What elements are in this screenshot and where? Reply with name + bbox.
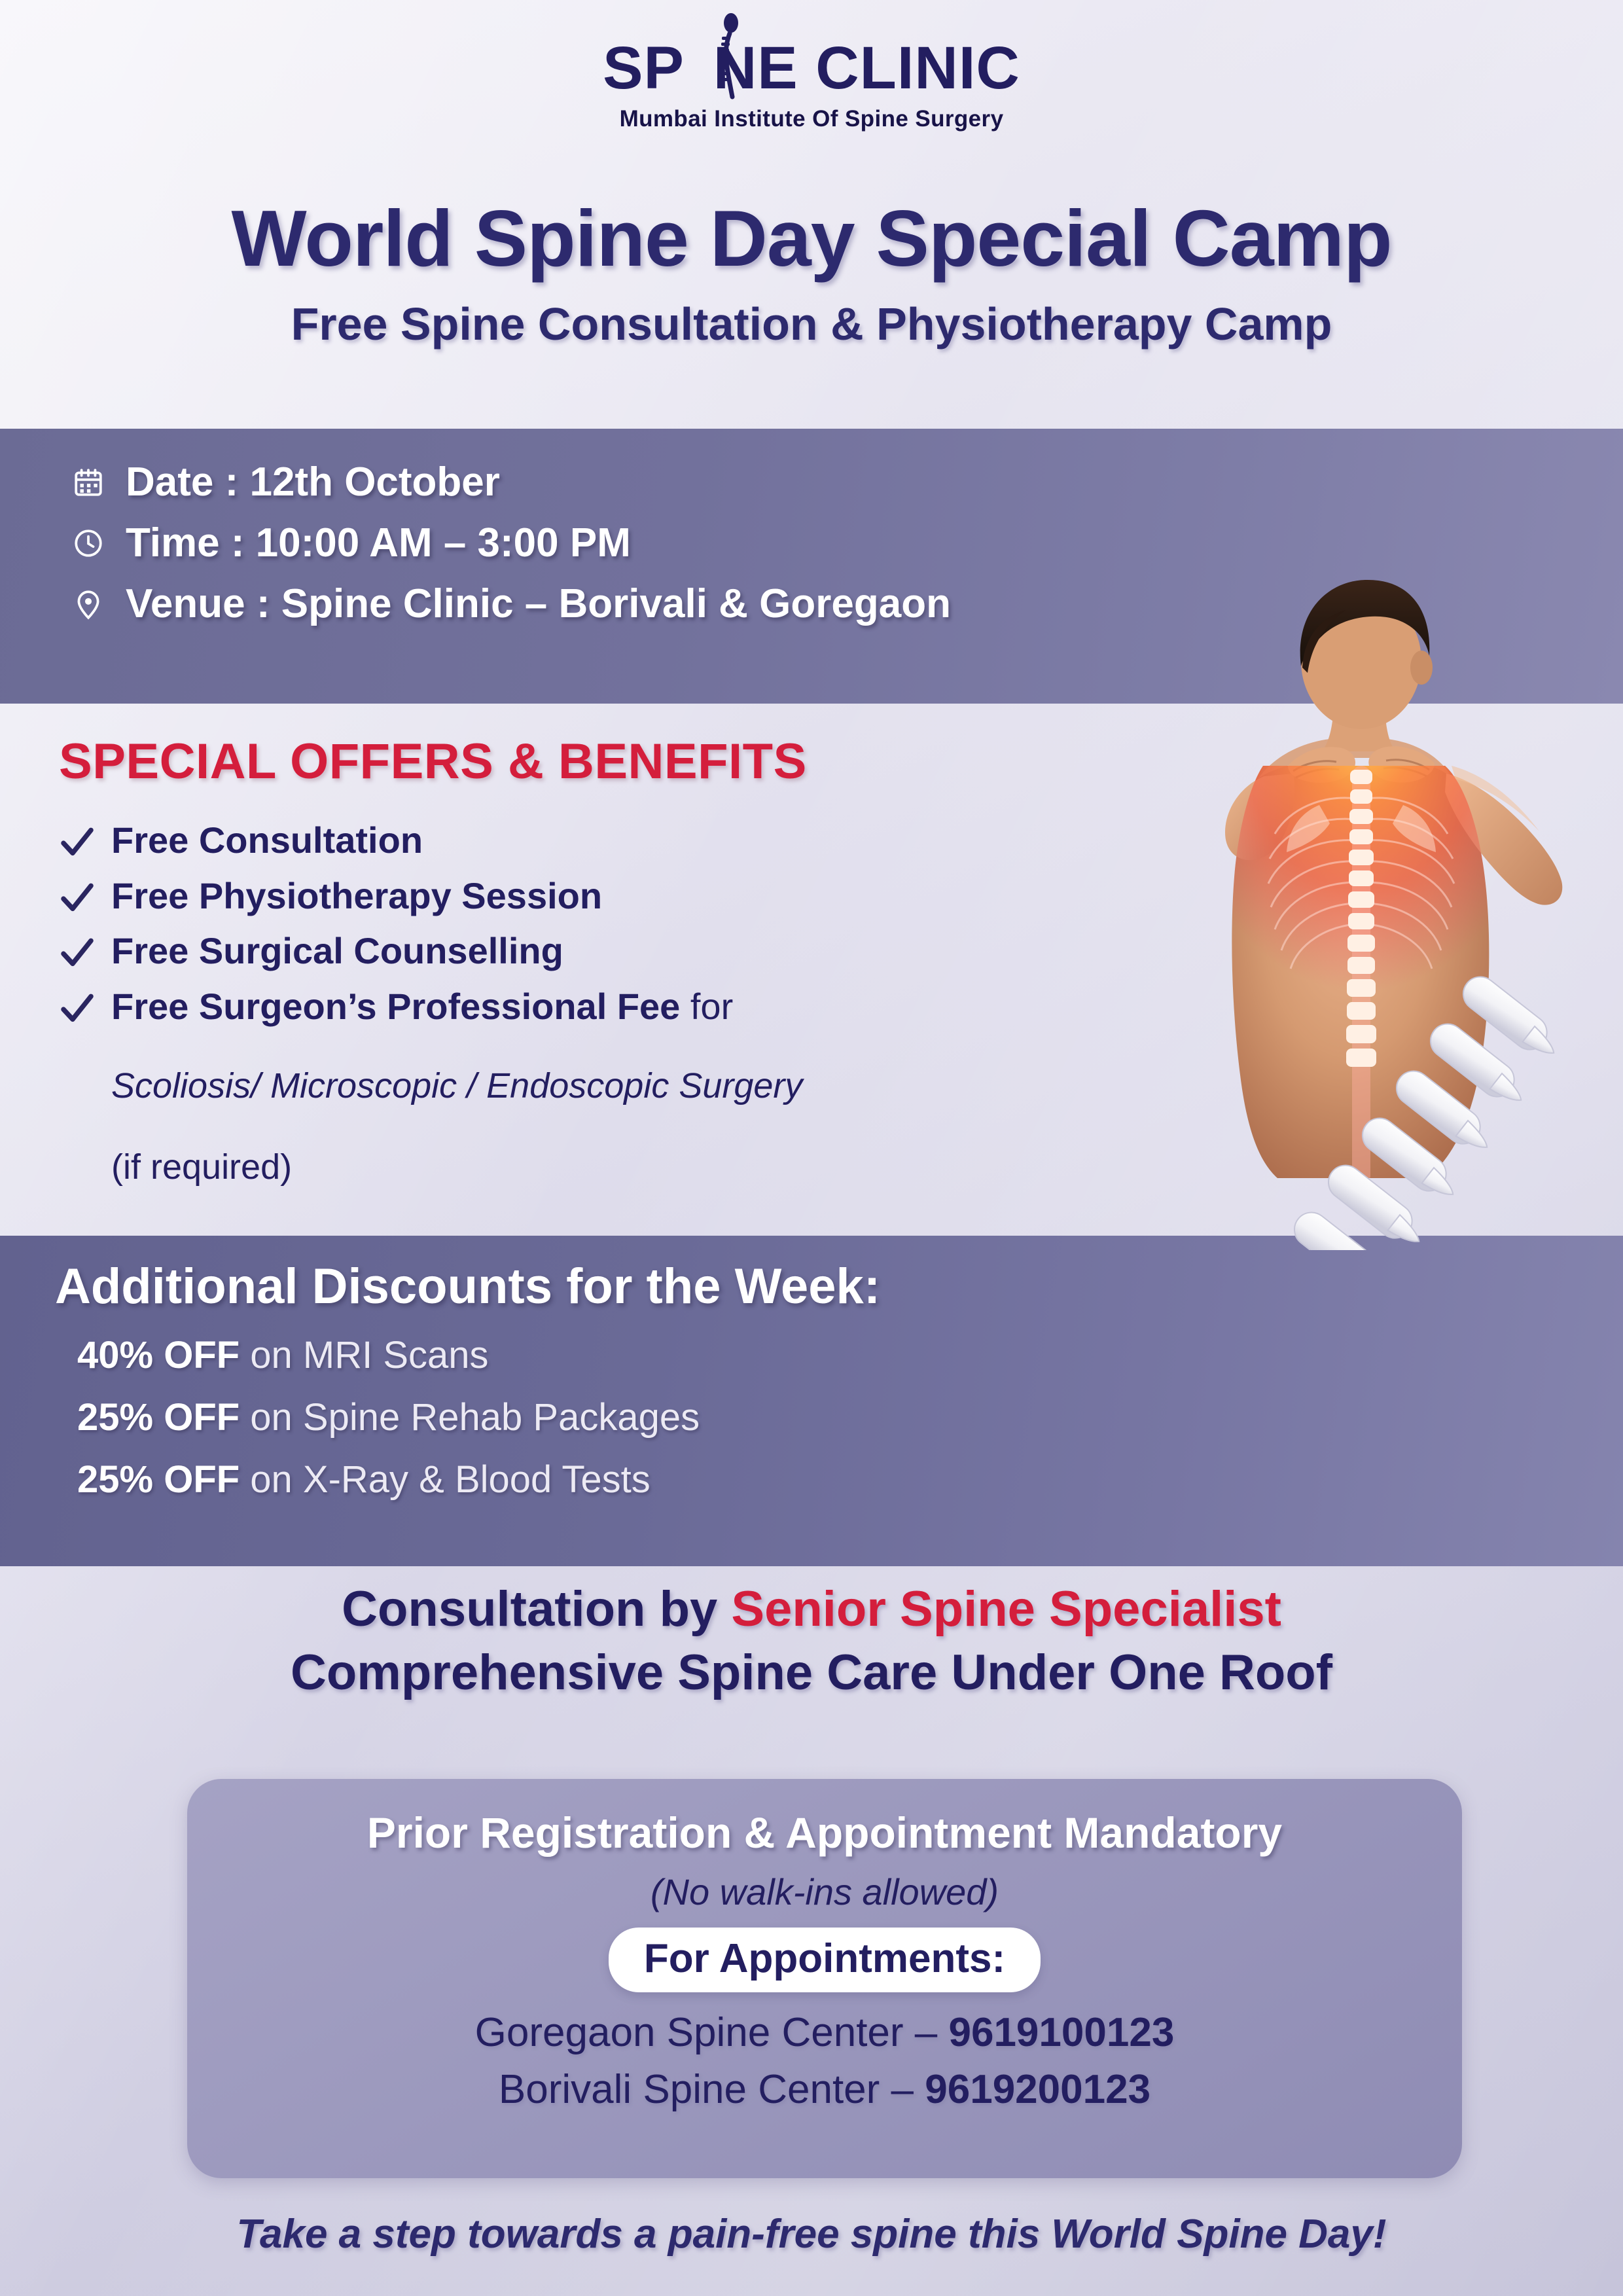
calendar-icon <box>71 465 106 500</box>
consult-line-2: Comprehensive Spine Care Under One Roof <box>0 1641 1623 1704</box>
consultation-headline: Consultation by Senior Spine Specialist … <box>0 1577 1623 1705</box>
lumbar-vertebrae-illustration <box>1287 970 1565 1250</box>
discount-amount-2: 25% OFF <box>77 1458 240 1501</box>
offer-label-1: Free Physiotherapy Session <box>111 875 602 916</box>
discount-row-1: 25% OFF on Spine Rehab Packages <box>0 1395 1623 1439</box>
footer-tagline: Take a step towards a pain-free spine th… <box>0 2211 1623 2257</box>
discounts-heading: Additional Discounts for the Week: <box>0 1236 1623 1315</box>
event-time-label: Time : 10:00 AM – 3:00 PM <box>126 520 631 566</box>
rib-lines <box>1268 798 1454 969</box>
hands-on-neck <box>1288 746 1435 783</box>
offer-label-2: Free Surgical Counselling <box>111 930 563 971</box>
contact-row-borivali: Borivali Spine Center – 9619200123 <box>187 2066 1462 2113</box>
location-pin-icon <box>71 586 106 622</box>
check-icon <box>59 824 96 861</box>
discount-desc-0: on MRI Scans <box>240 1334 488 1376</box>
check-icon <box>59 935 96 971</box>
event-row-date: Date : 12th October <box>71 459 1623 505</box>
offer-detail-note: (if required) <box>111 1144 292 1190</box>
contact-name-borivali: Borivali Spine Center – <box>499 2067 925 2112</box>
clock-icon <box>71 526 106 561</box>
discount-amount-0: 40% OFF <box>77 1334 240 1376</box>
consult-prefix: Consultation by <box>342 1581 731 1637</box>
offer-label-3-suffix: for <box>680 986 733 1027</box>
list-item: Free Surgical Counselling <box>59 931 1132 972</box>
logo-wordmark: SP NE CLINIC <box>603 38 1020 98</box>
offers-list: Free Consultation Free Physiotherapy Ses… <box>59 820 1132 1190</box>
logo-word-left: SP <box>603 38 685 98</box>
list-item: Free Physiotherapy Session <box>59 876 1132 917</box>
consult-line-1: Consultation by Senior Spine Specialist <box>0 1577 1623 1641</box>
list-item: Free Consultation <box>59 820 1132 861</box>
discount-row-0: 40% OFF on MRI Scans <box>0 1333 1623 1377</box>
clinic-logo: SP NE CLINIC Mumbai Institute Of Spine <box>0 38 1623 132</box>
offer-detail-italic: Scoliosis/ Microscopic / Endoscopic Surg… <box>111 1063 802 1109</box>
discount-row-2: 25% OFF on X-Ray & Blood Tests <box>0 1458 1623 1501</box>
discount-amount-1: 25% OFF <box>77 1396 240 1439</box>
contact-phone-borivali[interactable]: 9619200123 <box>925 2067 1150 2112</box>
contact-row-goregaon: Goregaon Spine Center – 9619100123 <box>187 2009 1462 2056</box>
registration-note: (No walk-ins allowed) <box>187 1871 1462 1913</box>
for-appointments-pill: For Appointments: <box>609 1928 1041 1992</box>
highlighted-spine <box>1346 766 1376 1185</box>
logo-word-right: NE CLINIC <box>713 38 1020 98</box>
contact-phone-goregaon[interactable]: 9619100123 <box>948 2010 1174 2055</box>
event-details-band: Date : 12th October Time : 10:00 AM – 3:… <box>0 429 1623 704</box>
event-row-time: Time : 10:00 AM – 3:00 PM <box>71 520 1623 566</box>
check-icon <box>59 990 96 1027</box>
right-arm <box>1445 774 1562 905</box>
contact-name-goregaon: Goregaon Spine Center – <box>475 2010 949 2055</box>
event-venue-label: Venue : Spine Clinic – Borivali & Gorega… <box>126 581 951 627</box>
page-subtitle: Free Spine Consultation & Physiotherapy … <box>0 298 1623 350</box>
registration-title: Prior Registration & Appointment Mandato… <box>187 1779 1462 1857</box>
registration-card: Prior Registration & Appointment Mandato… <box>187 1779 1462 2178</box>
page-title-block: World Spine Day Special Camp Free Spine … <box>0 196 1623 350</box>
event-row-venue: Venue : Spine Clinic – Borivali & Gorega… <box>71 581 1623 627</box>
discounts-band: Additional Discounts for the Week: 40% O… <box>0 1236 1623 1566</box>
torso <box>1232 766 1489 1178</box>
consult-highlight: Senior Spine Specialist <box>731 1581 1281 1637</box>
offer-label-3: Free Surgeon’s Professional Fee <box>111 986 680 1027</box>
discount-desc-1: on Spine Rehab Packages <box>240 1396 700 1439</box>
offer-label-0: Free Consultation <box>111 819 423 861</box>
check-icon <box>59 880 96 916</box>
event-date-label: Date : 12th October <box>126 459 500 505</box>
offers-heading: SPECIAL OFFERS & BENEFITS <box>59 733 1132 790</box>
page-title: World Spine Day Special Camp <box>0 196 1623 281</box>
poster-canvas: SP NE CLINIC Mumbai Institute Of Spine <box>0 0 1623 2296</box>
offers-section: SPECIAL OFFERS & BENEFITS Free Consultat… <box>59 733 1132 1204</box>
list-item: Free Surgeon’s Professional Fee for Scol… <box>59 986 1132 1190</box>
discount-desc-2: on X-Ray & Blood Tests <box>240 1458 651 1501</box>
spine-icon <box>717 13 743 99</box>
logo-subtitle: Mumbai Institute Of Spine Surgery <box>0 106 1623 132</box>
